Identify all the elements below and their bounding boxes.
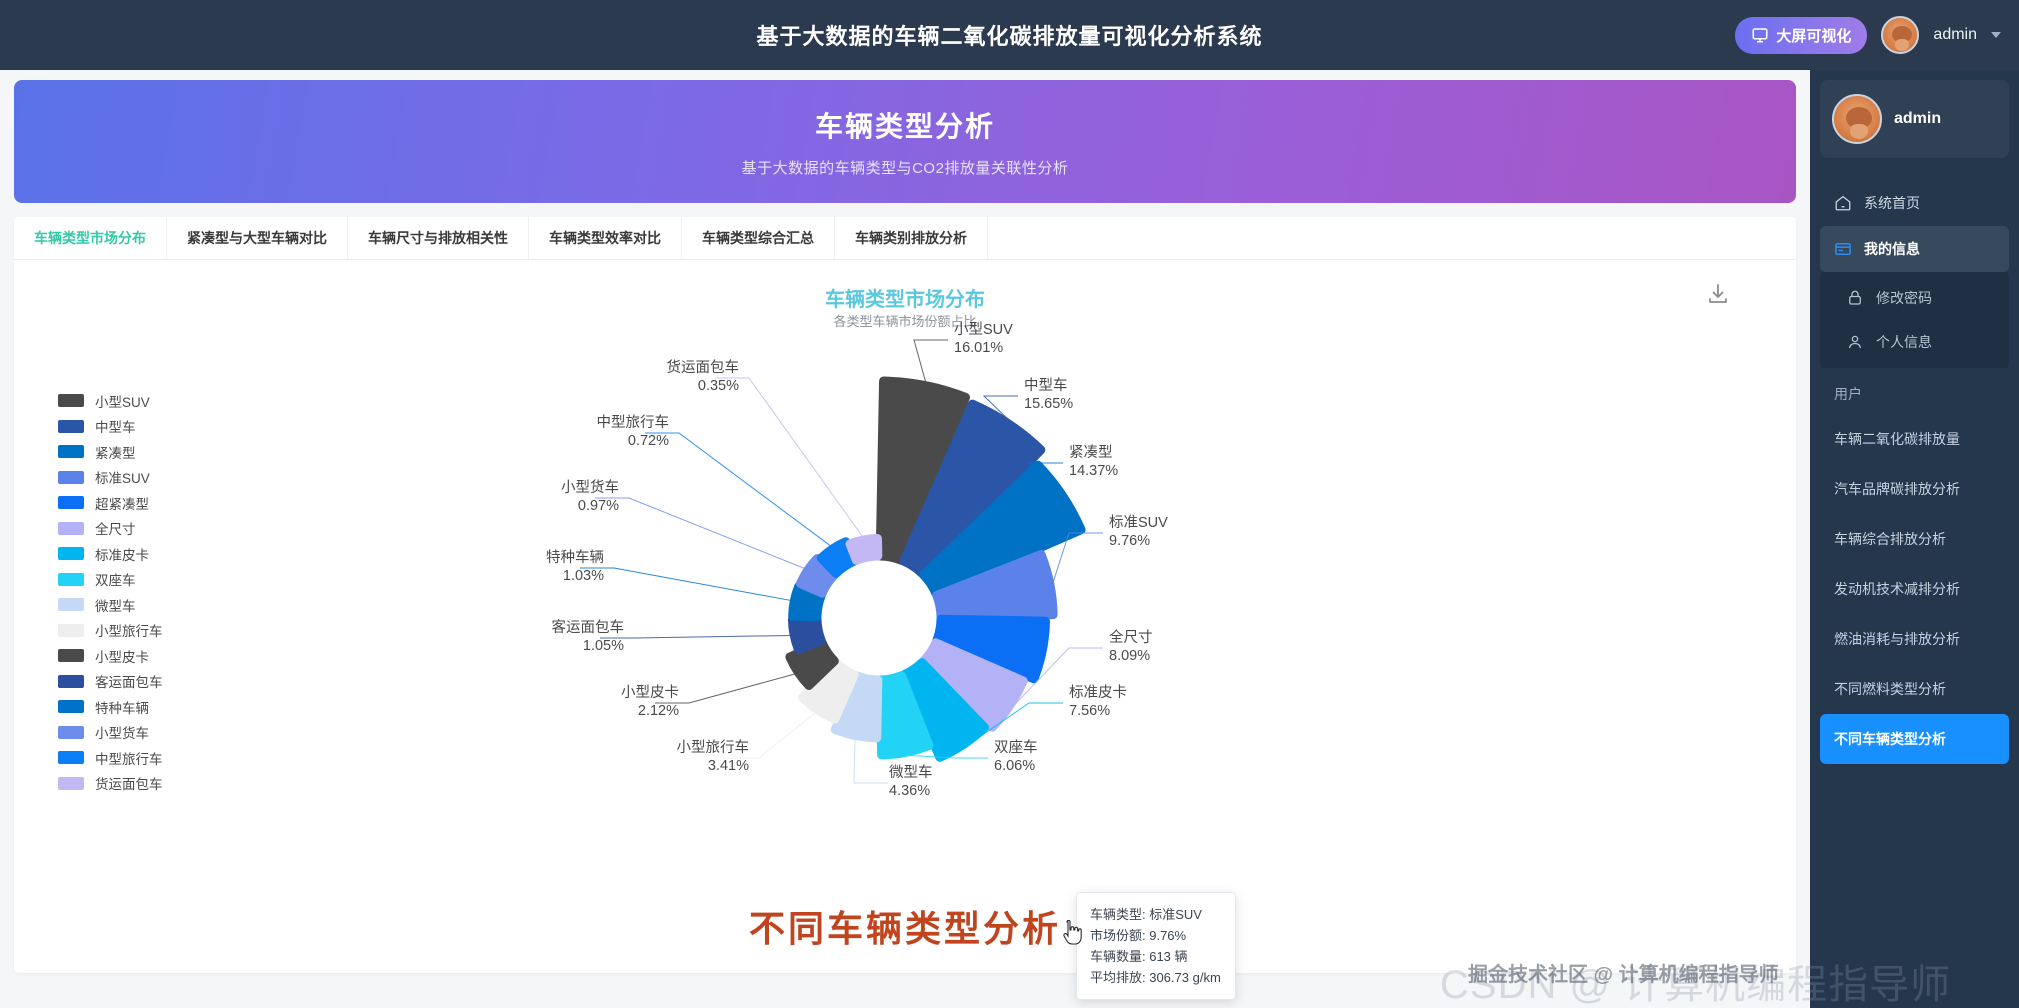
tab-bar: 车辆类型市场分布 紧凑型与大型车辆对比 车辆尺寸与排放相关性 车辆类型效率对比 … xyxy=(14,217,1796,260)
sidebar-item-change-password[interactable]: 修改密码 xyxy=(1820,276,2009,320)
tab-efficiency-comparison[interactable]: 车辆类型效率对比 xyxy=(529,217,682,259)
label-leader-line xyxy=(914,340,948,383)
legend-item[interactable]: 全尺寸 xyxy=(58,516,163,542)
legend-item-label: 微型车 xyxy=(95,595,136,615)
legend-item-label: 中型车 xyxy=(95,416,136,436)
page-banner: 车辆类型分析 基于大数据的车辆类型与CO2排放量关联性分析 xyxy=(14,80,1796,203)
slice-label-name: 双座车 xyxy=(994,739,1038,756)
sidebar-links: 车辆二氧化碳排放量汽车品牌碳排放分析车辆综合排放分析发动机技术减排分析燃油消耗与… xyxy=(1820,414,2009,764)
legend-item-label: 客运面包车 xyxy=(95,671,163,691)
sidebar-user-card[interactable]: admin xyxy=(1820,80,2009,158)
sidebar-link-6[interactable]: 不同车辆类型分析 xyxy=(1820,714,2009,764)
legend-item-label: 小型旅行车 xyxy=(95,620,163,640)
slice-label-value: 1.03% xyxy=(563,568,604,584)
slice-label-value: 0.97% xyxy=(578,498,619,514)
pie-slice[interactable] xyxy=(850,538,878,560)
legend-item-label: 小型皮卡 xyxy=(95,646,149,666)
tab-market-distribution[interactable]: 车辆类型市场分布 xyxy=(14,217,167,259)
slice-label-value: 16.01% xyxy=(954,340,1003,356)
legend-item-label: 双座车 xyxy=(95,569,136,589)
analysis-card: 车辆类型市场分布 紧凑型与大型车辆对比 车辆尺寸与排放相关性 车辆类型效率对比 … xyxy=(14,217,1796,973)
legend-item[interactable]: 紧凑型 xyxy=(58,439,163,465)
sidebar-avatar xyxy=(1832,94,1882,144)
legend-item[interactable]: 标准皮卡 xyxy=(58,541,163,567)
slice-label-name: 标准SUV xyxy=(1109,514,1168,531)
slice-label-name: 标准皮卡 xyxy=(1069,684,1127,701)
slice-label-name: 小型货车 xyxy=(561,479,619,496)
legend-swatch-icon xyxy=(58,496,84,509)
slice-label-name: 微型车 xyxy=(889,764,933,781)
slice-label-value: 3.41% xyxy=(708,758,749,774)
sidebar-item-home-label: 系统首页 xyxy=(1864,193,1920,213)
big-screen-visualization-button[interactable]: 大屏可视化 xyxy=(1735,17,1867,54)
lock-icon xyxy=(1846,289,1864,307)
sidebar-item-personal-info-label: 个人信息 xyxy=(1876,332,1932,352)
download-icon[interactable] xyxy=(1706,282,1730,306)
big-screen-label: 大屏可视化 xyxy=(1776,25,1851,46)
sidebar-link-0[interactable]: 车辆二氧化碳排放量 xyxy=(1820,414,2009,464)
top-bar: 基于大数据的车辆二氧化碳排放量可视化分析系统 大屏可视化 admin xyxy=(0,0,2019,70)
sidebar-submenu: 修改密码 个人信息 xyxy=(1820,272,2009,368)
top-bar-right: 大屏可视化 admin xyxy=(1735,0,2001,70)
slice-label-name: 小型旅行车 xyxy=(677,739,750,756)
sidebar-link-3[interactable]: 发动机技术减排分析 xyxy=(1820,564,2009,614)
page-subtitle: 基于大数据的车辆类型与CO2排放量关联性分析 xyxy=(742,157,1069,178)
legend-item-label: 货运面包车 xyxy=(95,773,163,793)
slice-label-value: 7.56% xyxy=(1069,703,1110,719)
legend-swatch-icon xyxy=(58,675,84,688)
legend-item[interactable]: 中型旅行车 xyxy=(58,745,163,771)
legend-item[interactable]: 小型皮卡 xyxy=(58,643,163,669)
red-watermark-text: 不同车辆类型分析 xyxy=(14,900,1796,952)
rose-chart: 小型SUV16.01%中型车15.65%紧凑型14.37%标准SUV9.76%全… xyxy=(484,318,1584,918)
legend-item[interactable]: 货运面包车 xyxy=(58,771,163,797)
slice-label-name: 全尺寸 xyxy=(1109,628,1153,646)
legend-item[interactable]: 超紧凑型 xyxy=(58,490,163,516)
legend-item[interactable]: 小型旅行车 xyxy=(58,618,163,644)
chart-legend: 小型SUV中型车紧凑型标准SUV超紧凑型全尺寸标准皮卡双座车微型车小型旅行车小型… xyxy=(58,388,163,796)
legend-swatch-icon xyxy=(58,547,84,560)
legend-swatch-icon xyxy=(58,598,84,611)
sidebar-link-5[interactable]: 不同燃料类型分析 xyxy=(1820,664,2009,714)
legend-swatch-icon xyxy=(58,522,84,535)
chart-title: 车辆类型市场分布 xyxy=(14,283,1796,312)
tab-compact-vs-large[interactable]: 紧凑型与大型车辆对比 xyxy=(167,217,348,259)
legend-swatch-icon xyxy=(58,726,84,739)
page-title: 车辆类型分析 xyxy=(815,105,995,145)
monitor-icon xyxy=(1751,26,1769,44)
app-root: 基于大数据的车辆二氧化碳排放量可视化分析系统 大屏可视化 admin 车辆类型分… xyxy=(0,0,2019,1008)
legend-item-label: 标准皮卡 xyxy=(95,544,149,564)
legend-swatch-icon xyxy=(58,777,84,790)
slice-label-value: 4.36% xyxy=(889,783,930,799)
legend-item[interactable]: 客运面包车 xyxy=(58,669,163,695)
slice-label-name: 小型皮卡 xyxy=(621,684,679,701)
sidebar-link-4[interactable]: 燃油消耗与排放分析 xyxy=(1820,614,2009,664)
legend-swatch-icon xyxy=(58,751,84,764)
legend-item-label: 全尺寸 xyxy=(95,518,136,538)
chart-area: 车辆类型市场分布 各类型车辆市场份额占比 小型SUV中型车紧凑型标准SUV超紧凑… xyxy=(14,260,1796,972)
legend-item[interactable]: 小型SUV xyxy=(58,388,163,414)
tab-comprehensive-summary[interactable]: 车辆类型综合汇总 xyxy=(682,217,835,259)
legend-item-label: 超紧凑型 xyxy=(95,493,149,513)
slice-label-name: 货运面包车 xyxy=(667,359,740,376)
app-title: 基于大数据的车辆二氧化碳排放量可视化分析系统 xyxy=(756,19,1262,51)
chevron-down-icon[interactable] xyxy=(1991,32,2001,38)
legend-swatch-icon xyxy=(58,445,84,458)
slice-label-name: 特种车辆 xyxy=(546,549,604,566)
legend-item[interactable]: 标准SUV xyxy=(58,465,163,491)
label-leader-line xyxy=(715,378,863,537)
slice-label-value: 6.06% xyxy=(994,758,1035,774)
legend-item[interactable]: 微型车 xyxy=(58,592,163,618)
legend-swatch-icon xyxy=(58,649,84,662)
slice-label-name: 中型车 xyxy=(1024,377,1068,394)
slice-label-name: 客运面包车 xyxy=(552,619,625,636)
legend-swatch-icon xyxy=(58,420,84,433)
home-icon xyxy=(1834,194,1852,212)
label-leader-line xyxy=(580,568,791,601)
sidebar-item-home[interactable]: 系统首页 xyxy=(1820,180,2009,226)
top-bar-username[interactable]: admin xyxy=(1933,26,1977,44)
sidebar-item-my-info[interactable]: 我的信息 xyxy=(1820,226,2009,272)
legend-item[interactable]: 小型货车 xyxy=(58,720,163,746)
tab-category-emission-analysis[interactable]: 车辆类别排放分析 xyxy=(835,217,988,259)
legend-item[interactable]: 特种车辆 xyxy=(58,694,163,720)
legend-swatch-icon xyxy=(58,700,84,713)
label-leader-line xyxy=(645,433,831,546)
label-leader-line xyxy=(595,498,805,569)
slice-label-value: 14.37% xyxy=(1069,463,1118,479)
legend-swatch-icon xyxy=(58,394,84,407)
profile-card-icon xyxy=(1834,240,1852,258)
slice-label-value: 2.12% xyxy=(638,703,679,719)
legend-item-label: 中型旅行车 xyxy=(95,748,163,768)
slice-label-name: 中型旅行车 xyxy=(597,414,670,431)
sidebar-link-1[interactable]: 汽车品牌碳排放分析 xyxy=(1820,464,2009,514)
sidebar-item-my-info-label: 我的信息 xyxy=(1864,239,1920,259)
slice-label-value: 0.72% xyxy=(628,433,669,449)
legend-item-label: 特种车辆 xyxy=(95,697,149,717)
legend-item[interactable]: 双座车 xyxy=(58,567,163,593)
sidebar-group-title: 用户 xyxy=(1820,368,2009,414)
legend-item[interactable]: 中型车 xyxy=(58,414,163,440)
label-leader-line xyxy=(600,635,791,638)
legend-item-label: 标准SUV xyxy=(95,467,150,487)
legend-swatch-icon xyxy=(58,573,84,586)
legend-item-label: 紧凑型 xyxy=(95,442,136,462)
sidebar-item-personal-info[interactable]: 个人信息 xyxy=(1820,320,2009,364)
legend-item-label: 小型SUV xyxy=(95,391,150,411)
slice-label-name: 紧凑型 xyxy=(1069,444,1113,461)
legend-swatch-icon xyxy=(58,624,84,637)
pie-slice[interactable] xyxy=(792,619,821,649)
slice-label-value: 15.65% xyxy=(1024,396,1073,412)
tooltip-avg-emission: 平均排放: 306.73 g/km xyxy=(1090,967,1222,988)
sidebar-link-2[interactable]: 车辆综合排放分析 xyxy=(1820,514,2009,564)
avatar[interactable] xyxy=(1881,16,1919,54)
sidebar-username: admin xyxy=(1894,110,1941,128)
slice-label-value: 8.09% xyxy=(1109,648,1150,664)
slice-label-value: 1.05% xyxy=(583,638,624,654)
sidebar-item-change-password-label: 修改密码 xyxy=(1876,288,1932,308)
right-sidebar: admin 系统首页 我的信息 xyxy=(1810,70,2019,1008)
legend-swatch-icon xyxy=(58,471,84,484)
tab-size-emission-correlation[interactable]: 车辆尺寸与排放相关性 xyxy=(348,217,529,259)
user-icon xyxy=(1846,333,1864,351)
legend-item-label: 小型货车 xyxy=(95,722,149,742)
slice-label-name: 小型SUV xyxy=(954,321,1013,338)
slice-label-value: 9.76% xyxy=(1109,533,1150,549)
slice-label-value: 0.35% xyxy=(698,378,739,394)
main-content: 车辆类型分析 基于大数据的车辆类型与CO2排放量关联性分析 车辆类型市场分布 紧… xyxy=(0,70,1810,1008)
